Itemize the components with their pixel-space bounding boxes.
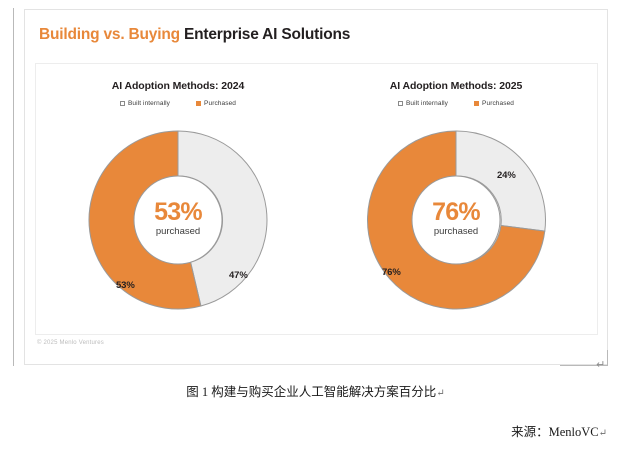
figure-caption-text: 图 1 构建与购买企业人工智能解决方案百分比 — [186, 385, 436, 399]
donut-label-purchased-2025: 76% — [382, 267, 401, 278]
legend-item-built-internally-2025: Built internally — [398, 100, 448, 107]
figure-caption: 图 1 构建与购买企业人工智能解决方案百分比↵ — [0, 381, 631, 400]
legend-swatch-purchased-icon — [196, 101, 201, 106]
legend-item-purchased-2025: Purchased — [474, 100, 514, 107]
donut-graphic-2024: 53% purchased — [84, 126, 272, 314]
card-footer-copyright: © 2025 Menlo Ventures — [37, 340, 104, 346]
chart-title-2024: AI Adoption Methods: 2024 — [38, 80, 318, 92]
title-accent-text: Building vs. Buying — [39, 26, 180, 43]
chart-legend-2024: Built internally Purchased — [38, 100, 318, 107]
donut-center-value-2025: 76% — [362, 198, 550, 227]
legend-item-purchased: Purchased — [196, 100, 236, 107]
donut-graphic-2025: 76% purchased — [362, 126, 550, 314]
legend-label-built-internally-2025: Built internally — [406, 100, 448, 107]
legend-swatch-internal-icon — [398, 101, 403, 106]
chart-legend-2025: Built internally Purchased — [316, 100, 596, 107]
donut-label-built-internally-2025: 24% — [497, 170, 516, 181]
donut-center-sublabel-2025: purchased — [362, 226, 550, 237]
donut-center-sublabel-2024: purchased — [84, 226, 272, 237]
donut-center-value-2024: 53% — [84, 198, 272, 227]
legend-label-purchased: Purchased — [204, 100, 236, 107]
caption-return-mark-icon: ↵ — [436, 388, 444, 399]
donut-label-built-internally-2024: 47% — [229, 270, 248, 281]
chart-title-2025: AI Adoption Methods: 2025 — [316, 80, 596, 92]
figure-card: Building vs. Buying Enterprise AI Soluti… — [24, 9, 608, 365]
source-text: 来源：MenloVC — [511, 425, 599, 439]
donut-chart-2025: AI Adoption Methods: 2025 Built internal… — [316, 64, 596, 336]
legend-label-built-internally: Built internally — [128, 100, 170, 107]
title-plain-text: Enterprise AI Solutions — [180, 26, 350, 43]
donut-label-purchased-2024: 53% — [116, 280, 135, 291]
legend-item-built-internally: Built internally — [120, 100, 170, 107]
donut-chart-2024: AI Adoption Methods: 2024 Built internal… — [38, 64, 318, 336]
page-margin-rule — [13, 8, 14, 366]
legend-swatch-internal-icon — [120, 101, 125, 106]
paragraph-return-mark-icon: ↵ — [596, 358, 616, 372]
source-return-mark-icon: ↵ — [599, 428, 607, 439]
legend-label-purchased-2025: Purchased — [482, 100, 514, 107]
chart-panel: AI Adoption Methods: 2024 Built internal… — [35, 63, 598, 335]
source-attribution: 来源：MenloVC↵ — [511, 421, 607, 440]
legend-swatch-purchased-icon — [474, 101, 479, 106]
page-title: Building vs. Buying Enterprise AI Soluti… — [39, 26, 350, 44]
